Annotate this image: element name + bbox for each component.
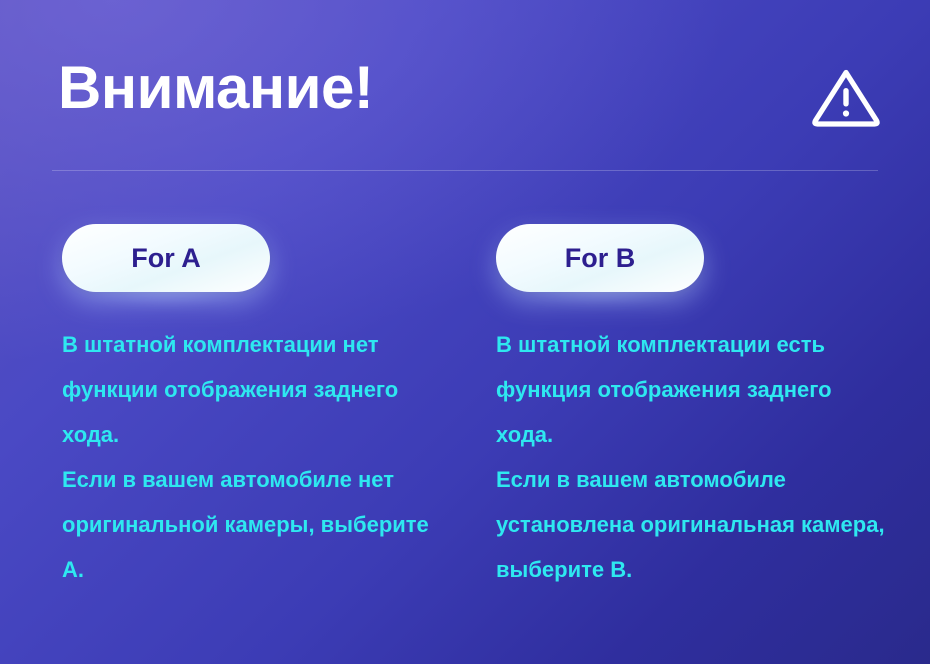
options-container: For A В штатной комплектации нет функции… [0, 206, 930, 636]
slide-header: Внимание! [0, 0, 930, 172]
option-button-label-for-b: For B [565, 243, 636, 274]
pill-wrapper-for-a: For A [62, 206, 462, 298]
option-column-for-a: For A В штатной комплектации нет функции… [62, 206, 462, 592]
option-paragraph: Если в вашем автомобиле нет оригинальной… [62, 457, 454, 592]
warning-triangle-icon [810, 62, 882, 134]
option-button-label-for-a: For A [131, 243, 201, 274]
warning-slide: Внимание! For A В штатной комплектации н… [0, 0, 930, 664]
page-title: Внимание! [58, 56, 373, 120]
option-paragraph: В штатной комплектации нет функции отобр… [62, 322, 454, 457]
option-button-for-b[interactable]: For B [496, 224, 704, 292]
option-paragraph: Если в вашем автомобиле установлена ориг… [496, 457, 888, 592]
option-column-for-b: For B В штатной комплектации есть функци… [496, 206, 896, 592]
pill-wrapper-for-b: For B [496, 206, 896, 298]
option-paragraph: В штатной комплектации есть функция отоб… [496, 322, 888, 457]
option-description-for-b: В штатной комплектации есть функция отоб… [496, 322, 888, 592]
header-divider [52, 170, 878, 171]
option-description-for-a: В штатной комплектации нет функции отобр… [62, 322, 454, 592]
option-button-for-a[interactable]: For A [62, 224, 270, 292]
